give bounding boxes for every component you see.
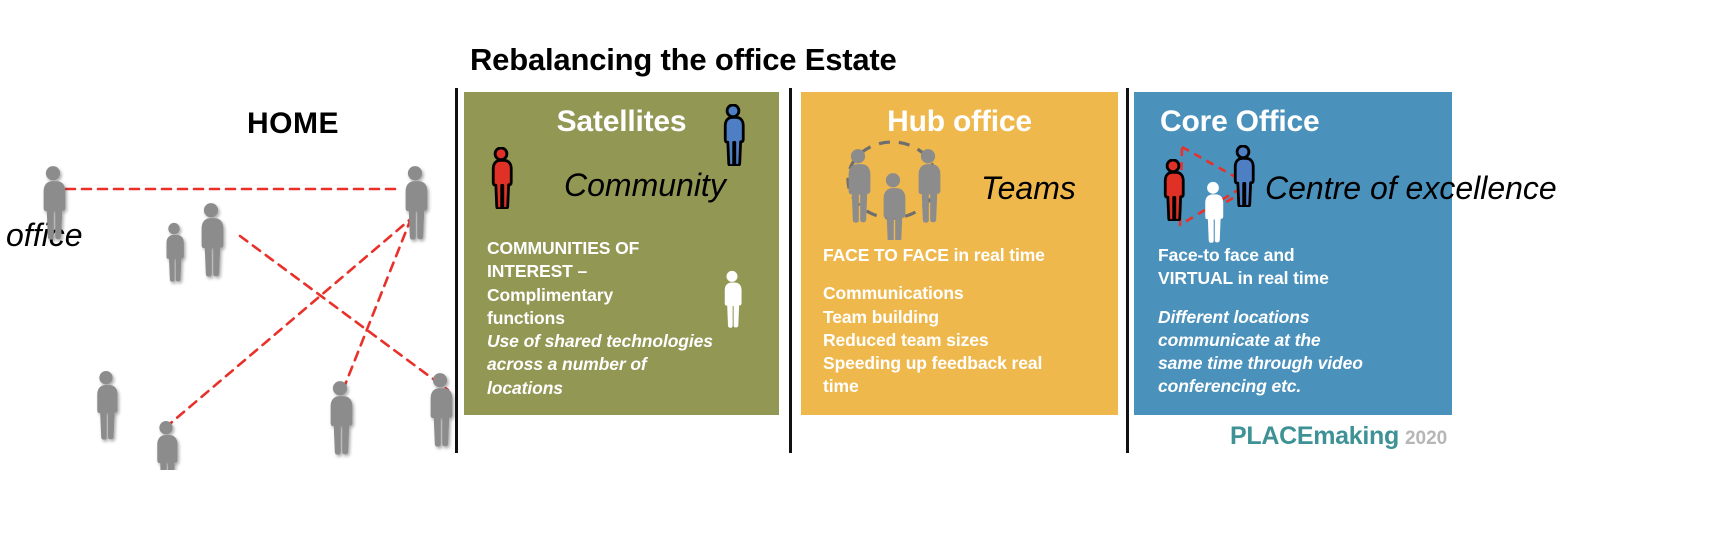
body-spacer <box>1158 291 1430 306</box>
body-satellites: COMMUNITIES OF INTEREST – Complimentary … <box>487 237 752 400</box>
body-hub: FACE TO FACE in real time Communications… <box>823 244 1093 399</box>
panel-core-office[interactable]: Core Office Centre of excellence Face-to… <box>1134 92 1452 415</box>
tagline-core: Centre of excellence <box>1265 170 1557 207</box>
body-line-italic: locations <box>487 377 752 400</box>
person-icon <box>97 371 117 440</box>
person-icon <box>431 373 453 447</box>
brand-logo-text: PLACEmaking <box>1230 422 1399 450</box>
panel-title-core: Core Office <box>1134 105 1320 139</box>
body-spacer <box>823 267 1093 282</box>
person-icon <box>331 381 353 455</box>
tagline-satellites: Community <box>564 167 726 204</box>
panel-hub-office[interactable]: Hub office Teams FACE TO FACE in real ti… <box>801 92 1118 415</box>
virtual-triangle-icon <box>1152 137 1277 247</box>
divider-line <box>1126 88 1129 453</box>
body-line-italic: conferencing etc. <box>1158 375 1430 398</box>
body-line: INTEREST – <box>487 260 752 283</box>
divider-line <box>789 88 792 453</box>
divider-line <box>455 88 458 453</box>
body-line: Reduced team sizes <box>823 329 1093 352</box>
person-icon <box>167 223 184 282</box>
body-line-italic: Different locations <box>1158 306 1430 329</box>
body-line: Face-to face and <box>1158 244 1430 267</box>
person-icon <box>44 166 66 240</box>
footer-year: 2020 <box>1405 428 1447 449</box>
person-icon <box>157 421 177 470</box>
body-line: Complimentary <box>487 284 752 307</box>
page-title: Rebalancing the office Estate <box>470 42 897 78</box>
team-circle-icon <box>821 130 963 240</box>
person-icon-blue <box>714 104 752 166</box>
person-icon <box>406 166 428 240</box>
body-line: Speeding up feedback real <box>823 352 1093 375</box>
body-line-italic: across a number of <box>487 353 752 376</box>
body-line: COMMUNITIES OF <box>487 237 752 260</box>
panel-satellites[interactable]: Satellites Community COMMUNITIES OF INTE… <box>464 92 779 415</box>
body-line: Communications <box>823 282 1093 305</box>
body-line: time <box>823 375 1093 398</box>
body-line: VIRTUAL in real time <box>1158 267 1430 290</box>
person-icon <box>202 203 224 277</box>
home-network-diagram <box>0 90 455 470</box>
body-core: Face-to face and VIRTUAL in real time Di… <box>1158 244 1430 399</box>
body-line-italic: same time through video <box>1158 352 1430 375</box>
body-line-italic: communicate at the <box>1158 329 1430 352</box>
footer: PLACEmaking2020 <box>1230 422 1447 451</box>
slide-canvas: Rebalancing the office Estate HOME offic… <box>0 0 1716 550</box>
body-line: FACE TO FACE in real time <box>823 244 1093 267</box>
tagline-hub: Teams <box>981 170 1076 207</box>
person-icon-red <box>482 147 520 209</box>
body-line-italic: Use of shared technologies <box>487 330 752 353</box>
body-line: Team building <box>823 306 1093 329</box>
body-line: functions <box>487 307 752 330</box>
